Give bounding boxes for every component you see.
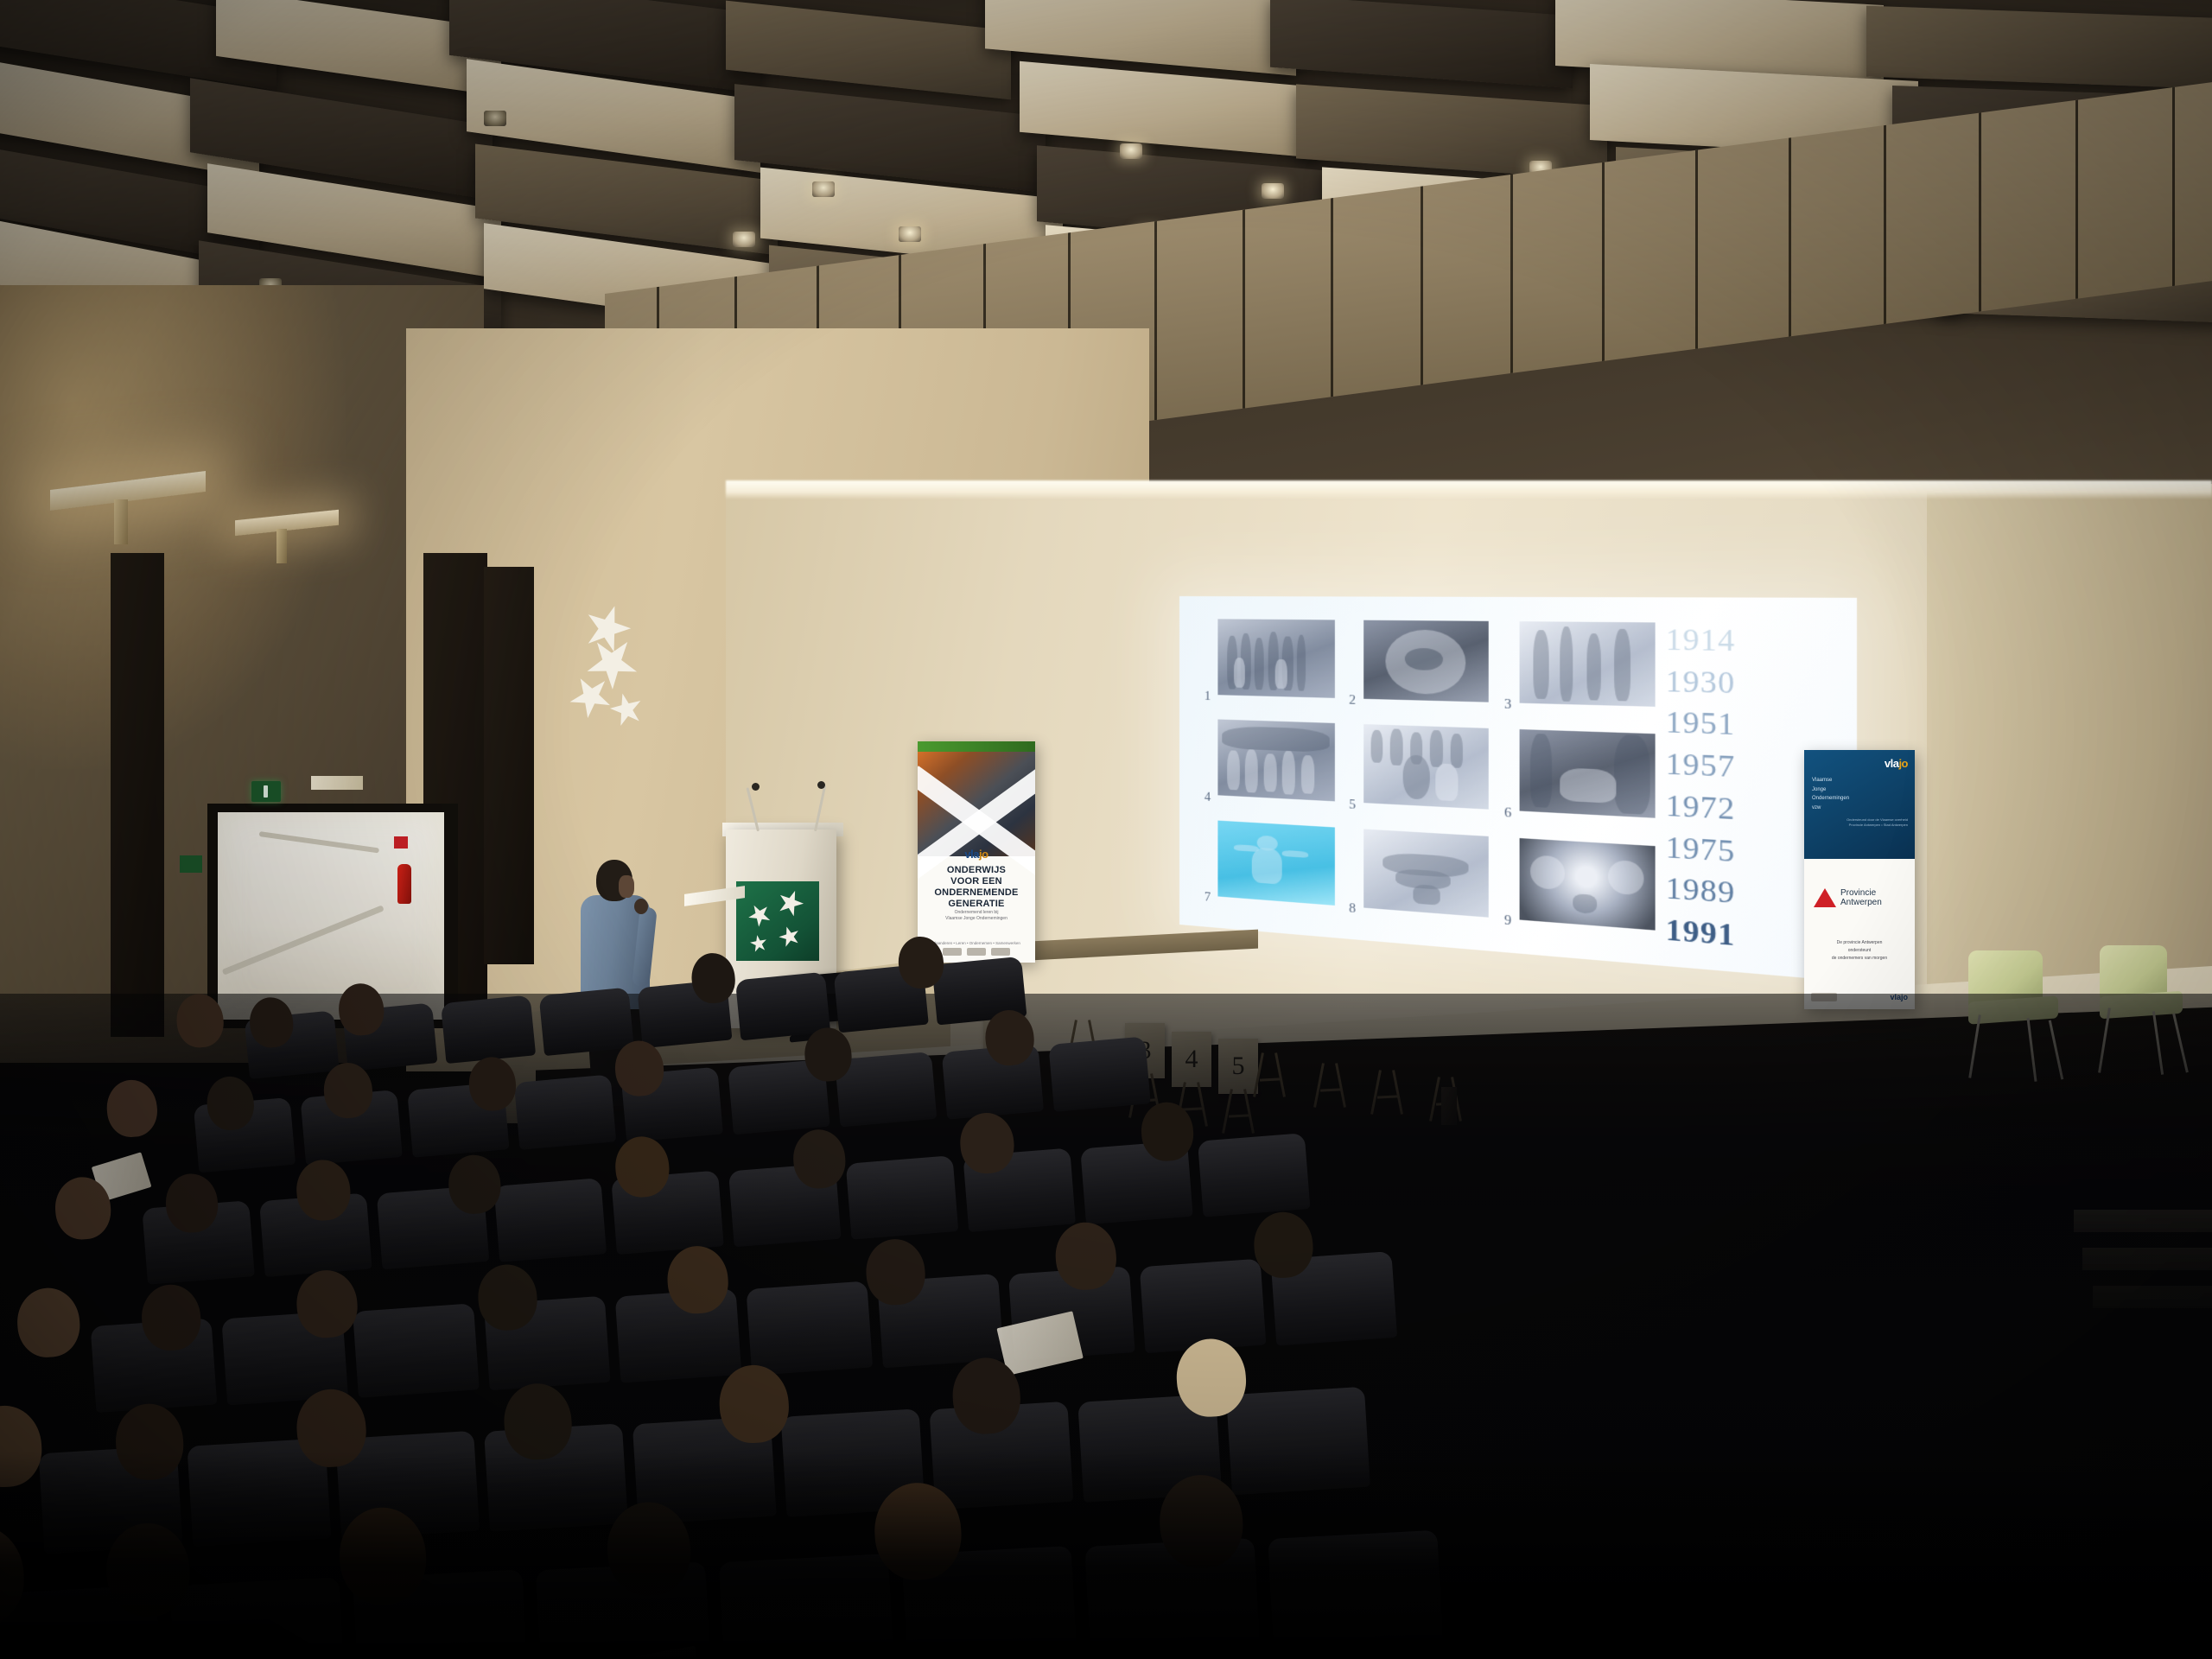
banner-provincie-antwerpen: vlajo Vlaamse Jonge Ondernemingen vzw On…	[1804, 750, 1915, 1009]
door-frame-pillar-left	[111, 553, 164, 1037]
microphone-head-icon	[817, 781, 825, 789]
projection-screen: 1	[1179, 596, 1857, 982]
slide-year: 1951	[1666, 708, 1839, 744]
banner-vlajo-onderwijs: vlajo ONDERWIJS VOOR EEN ONDERNEMENDE GE…	[918, 741, 1035, 963]
banner-blue-header: vlajo Vlaamse Jonge Ondernemingen vzw On…	[1804, 750, 1915, 859]
banner-title-line: VOOR EEN	[923, 876, 1030, 887]
photo-thumbnail-9-einstein	[1520, 838, 1656, 931]
slide-photo-cell: 9	[1504, 837, 1656, 944]
seat	[1048, 1036, 1150, 1111]
banner-footer-line: De provincie Antwerpen	[1811, 939, 1908, 947]
wall-lamp-2-stem	[276, 529, 287, 563]
slide-photo-cell: 4	[1205, 719, 1335, 814]
vlajo-logo: vlajo	[1885, 757, 1908, 770]
photo-number: 3	[1504, 698, 1520, 716]
podium-star-icon	[775, 922, 804, 950]
seat	[846, 1155, 959, 1239]
auditorium-scene: 1	[0, 0, 2212, 1659]
seat	[514, 1074, 616, 1149]
photo-number: 4	[1205, 791, 1218, 808]
photo-thumbnail-4	[1217, 720, 1334, 802]
exit-sign-glyph	[264, 785, 268, 798]
photo-number: 9	[1504, 914, 1520, 933]
banner-footer-line: ondersteunt	[1811, 947, 1908, 955]
ceiling-downlight	[1262, 183, 1284, 199]
photo-number: 8	[1349, 902, 1363, 920]
slide-year: 1914	[1666, 625, 1839, 658]
podium-star-icon	[774, 887, 807, 919]
slide-year: 1930	[1666, 666, 1839, 701]
seat	[539, 988, 634, 1057]
projected-slide: 1	[1179, 596, 1857, 982]
podium-star-icon	[744, 899, 775, 931]
photo-number: 2	[1349, 694, 1363, 711]
slide-photo-grid: 1	[1205, 619, 1656, 944]
seat	[441, 995, 536, 1064]
seat	[353, 1303, 480, 1398]
photo-thumbnail-2	[1363, 620, 1489, 702]
photo-thumbnail-8	[1363, 829, 1489, 917]
speaker-face	[619, 875, 634, 898]
banner-title-line: ONDERWIJS	[923, 865, 1030, 876]
ceiling-downlight	[1120, 143, 1142, 159]
banner-org-smallprint: Ondersteund door de Vlaamse overheid Pro…	[1812, 817, 1908, 829]
wall-lamp-1-stem	[114, 499, 128, 544]
photo-number: 6	[1504, 806, 1520, 825]
speaker-hand-with-microphone	[634, 899, 648, 914]
vlajo-logo: vlajo	[964, 848, 988, 861]
slide-photo-cell: 8	[1349, 828, 1489, 931]
corridor-light-box	[311, 776, 363, 790]
province-line: Provincie	[1840, 888, 1882, 898]
foreground-shadow	[0, 1452, 2212, 1659]
ceiling-downlight	[484, 111, 506, 126]
photo-thumbnail-3	[1520, 621, 1656, 707]
photo-thumbnail-7	[1217, 820, 1334, 905]
audience-head	[175, 992, 226, 1050]
seat	[493, 1178, 607, 1262]
photo-thumbnail-5	[1363, 724, 1489, 810]
ceiling-downlight	[899, 226, 921, 242]
photo-number: 7	[1205, 891, 1218, 908]
photo-number: 1	[1205, 690, 1218, 708]
wall-column-dark	[484, 567, 534, 964]
microphone-head-icon	[752, 783, 760, 791]
ceiling-downlight	[812, 181, 835, 197]
banner-org-lines: Vlaamse Jonge Ondernemingen vzw	[1812, 776, 1849, 812]
slide-photo-cell: 1	[1205, 619, 1335, 711]
photo-thumbnail-1	[1217, 619, 1334, 698]
slide-photo-cell: 6	[1504, 729, 1656, 832]
seat	[746, 1281, 873, 1376]
banner-title: ONDERWIJS VOOR EEN ONDERNEMENDE GENERATI…	[923, 865, 1030, 910]
audience-head	[15, 1286, 81, 1359]
banner-footer-line: de ondernemers van morgen	[1811, 955, 1908, 963]
slide-content: 1	[1205, 619, 1839, 958]
red-triangle-icon	[1814, 888, 1836, 907]
provincie-antwerpen-logo: Provincie Antwerpen	[1811, 864, 1910, 931]
seat	[1198, 1133, 1311, 1217]
ceiling-downlight	[733, 232, 755, 247]
podium-logo-panel	[736, 881, 819, 961]
fire-extinguisher-sign	[394, 836, 408, 849]
chair-back	[2100, 945, 2167, 999]
audience-area	[0, 994, 2212, 1659]
banner-title-line: ONDERNEMENDE	[923, 887, 1030, 899]
podium-star-icon	[748, 933, 768, 953]
photo-number: 5	[1349, 798, 1363, 817]
photo-thumbnail-6	[1520, 729, 1656, 818]
province-line: Antwerpen	[1840, 898, 1882, 907]
banner-green-stripe	[918, 741, 1035, 752]
slide-photo-cell: 2	[1349, 620, 1489, 716]
banner-title-line: GENERATIE	[923, 899, 1030, 910]
fire-extinguisher	[397, 864, 411, 904]
audience-head	[105, 1077, 160, 1139]
slide-photo-cell: 3	[1504, 621, 1656, 721]
cove-light-strip	[726, 480, 2212, 499]
banner-footer-text: De provincie Antwerpen ondersteunt de on…	[1811, 939, 1908, 963]
slide-photo-cell: 5	[1349, 724, 1489, 823]
audience-paper	[996, 1311, 1083, 1376]
exit-sign-secondary	[180, 855, 202, 873]
provincie-antwerpen-wordmark: Provincie Antwerpen	[1840, 888, 1882, 907]
banner-subtitle: Ondernemend leren bij Vlaamse Jonge Onde…	[926, 910, 1027, 923]
slide-photo-cell: 7	[1205, 819, 1335, 918]
